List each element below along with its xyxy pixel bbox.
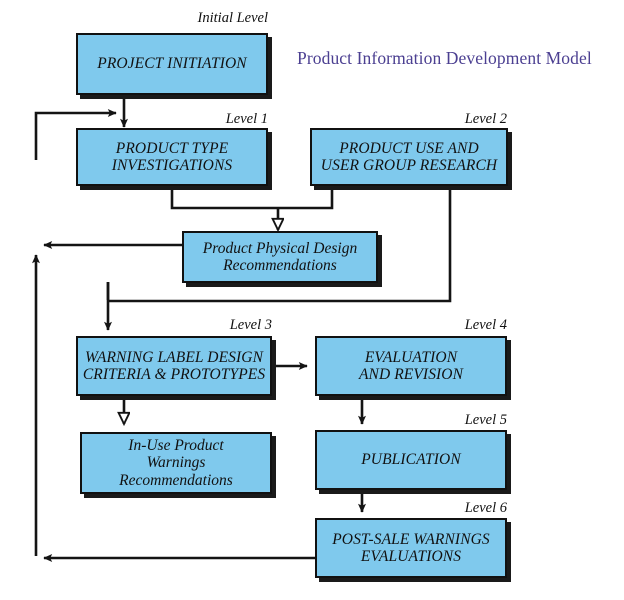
node-evaluation-and-revision[interactable]: EVALUATION AND REVISION	[315, 336, 507, 396]
node-post-sale-warnings-evaluations[interactable]: POST-SALE WARNINGS EVALUATIONS	[315, 518, 507, 578]
node-product-physical-design-recommendations[interactable]: Product Physical Design Recommendations	[182, 231, 378, 283]
level-label-4: Level 4	[335, 317, 507, 334]
node-project-initiation[interactable]: PROJECT INITIATION	[76, 33, 268, 95]
level-label-5: Level 5	[335, 412, 507, 429]
node-warning-label-design-criteria-prototypes[interactable]: WARNING LABEL DESIGN CRITERIA & PROTOTYP…	[76, 336, 272, 396]
edge-use-merge-down	[278, 185, 332, 208]
level-label-6: Level 6	[335, 500, 507, 517]
level-label-2: Level 2	[330, 111, 507, 128]
level-label-initial: Initial Level	[96, 10, 268, 27]
node-in-use-product-warnings-recommendations[interactable]: In-Use Product Warnings Recommendations	[80, 432, 272, 494]
node-product-use-user-group-research[interactable]: PRODUCT USE AND USER GROUP RESEARCH	[310, 128, 508, 186]
edge-type-merge-down	[172, 185, 278, 208]
node-product-type-investigations[interactable]: PRODUCT TYPE INVESTIGATIONS	[76, 128, 268, 186]
flowchart-diagram: Initial Level Level 1 Level 2 Level 3 Le…	[0, 0, 624, 600]
level-label-3: Level 3	[100, 317, 272, 334]
model-title: Product Information Development Model	[297, 48, 592, 69]
node-publication[interactable]: PUBLICATION	[315, 430, 507, 490]
level-label-1: Level 1	[96, 111, 268, 128]
